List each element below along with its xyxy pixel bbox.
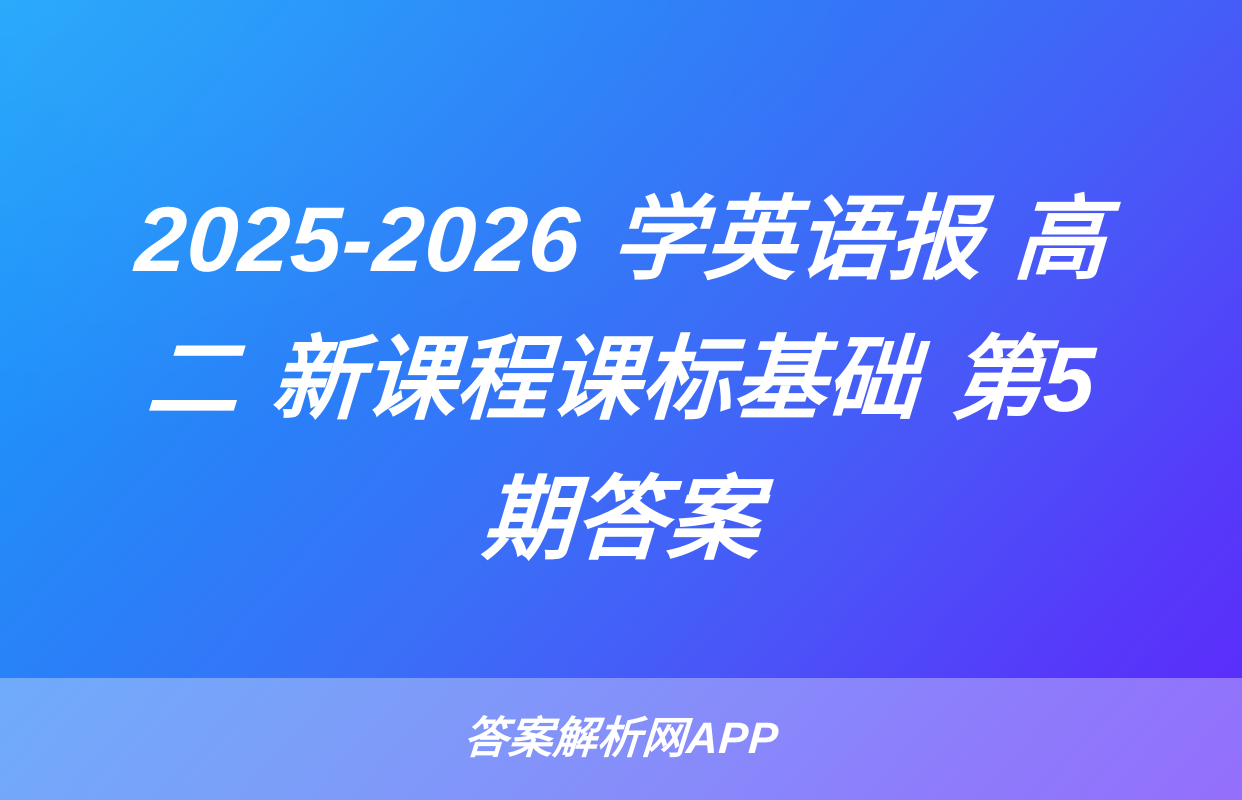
answer-cover-card: 2025-2026 学英语报 高 二 新课程课标基础 第5 期答案 答案解析网A… [0,0,1242,800]
page-title: 2025-2026 学英语报 高 二 新课程课标基础 第5 期答案 [0,170,1242,590]
title-line-1: 2025-2026 学英语报 高 [48,170,1193,310]
title-line-2: 二 新课程课标基础 第5 [48,310,1193,450]
footer-brand-band: 答案解析网APP [0,678,1242,800]
title-line-3: 期答案 [48,450,1193,590]
brand-watermark-label: 答案解析网APP [462,717,780,761]
